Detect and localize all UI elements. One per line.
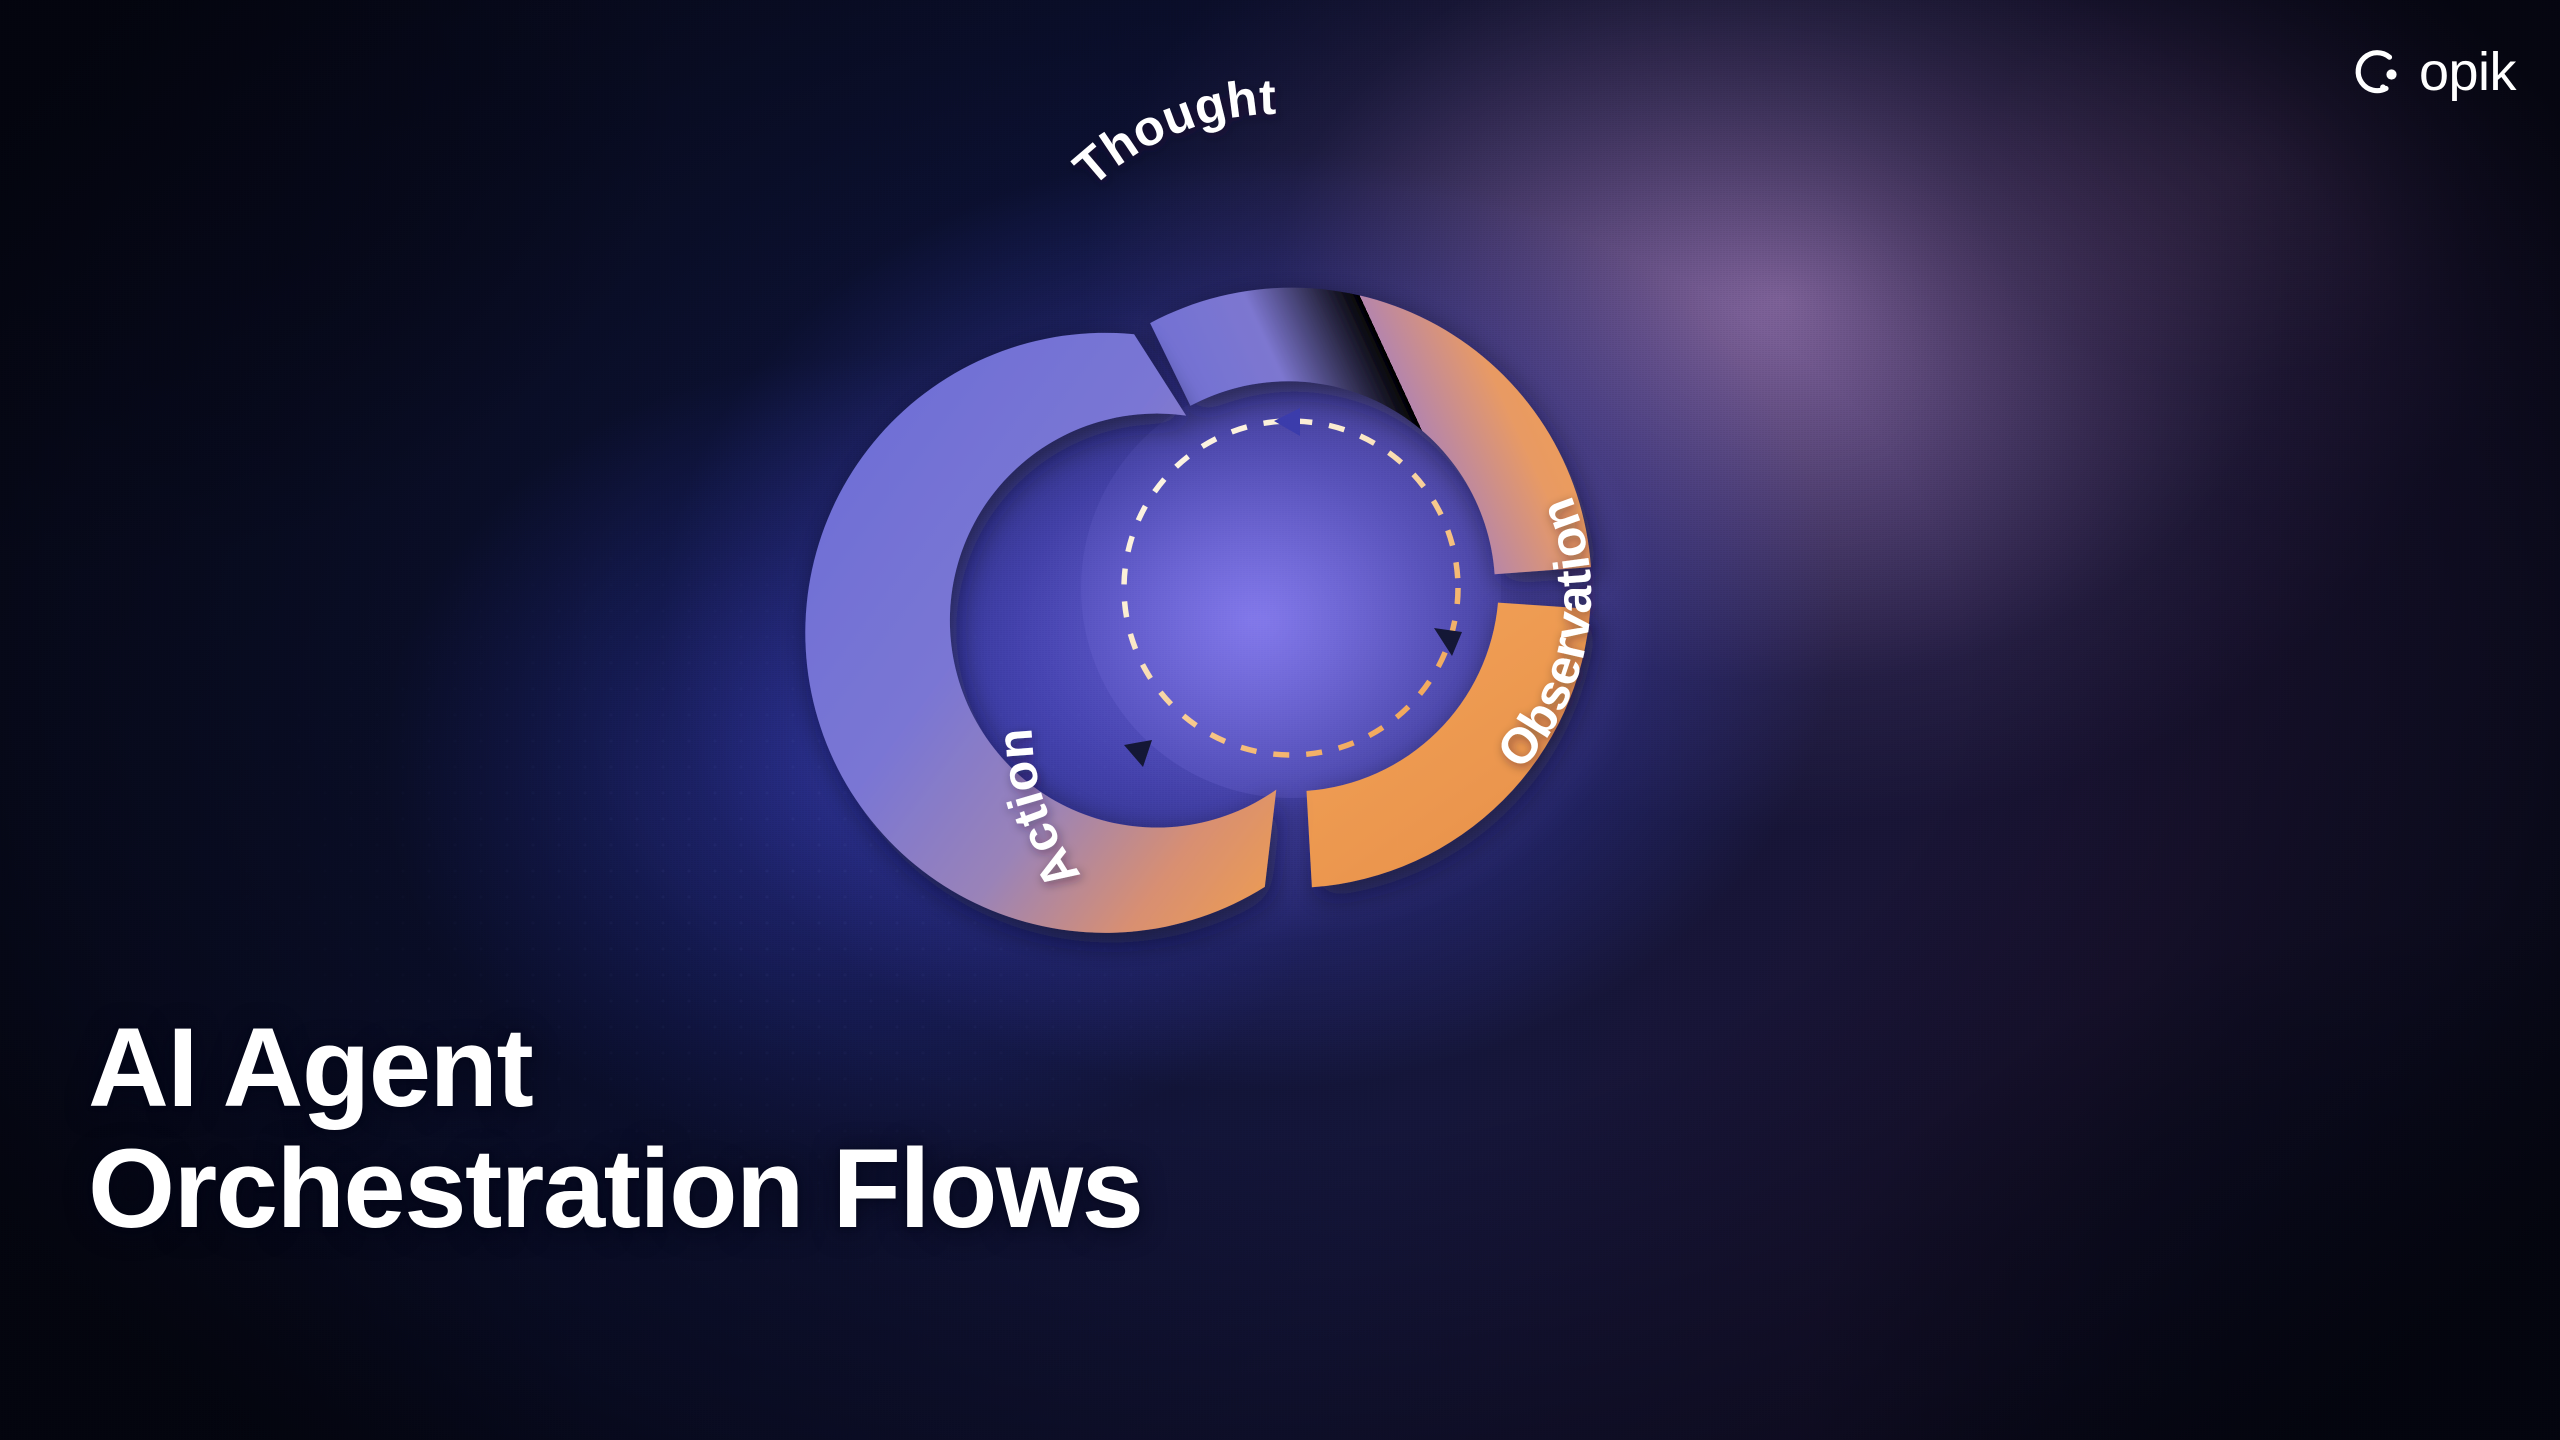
page-title: AI Agent Orchestration Flows	[88, 1008, 1388, 1250]
cycle-arrow-bottom-left	[1124, 740, 1152, 767]
poster-canvas: Thought Observation Action AI Agent Orch…	[0, 0, 2560, 1440]
headline-line-1: AI Agent	[88, 1008, 1388, 1129]
brand-logo[interactable]: opik	[2349, 44, 2516, 100]
brand-name: opik	[2419, 45, 2516, 99]
segment-label-thought: Thought	[1063, 69, 1277, 196]
opik-circle-dot-icon	[2349, 44, 2405, 100]
headline-line-2: Orchestration Flows	[88, 1129, 1388, 1250]
